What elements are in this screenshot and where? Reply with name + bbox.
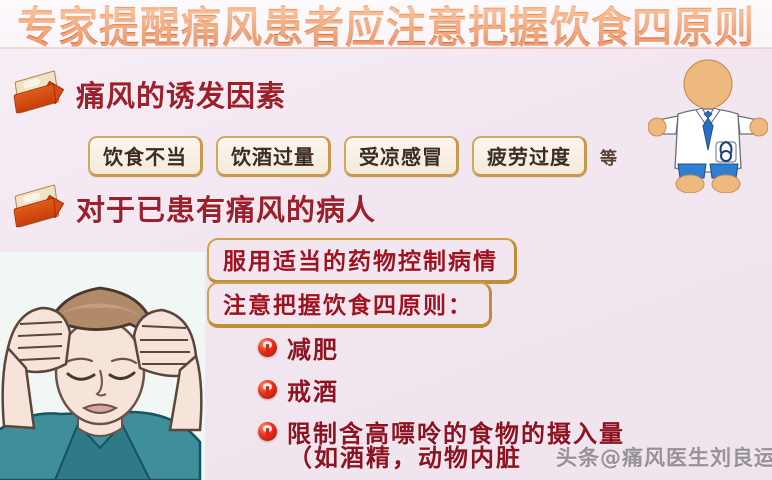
section-heading-2: 对于已患有痛风的病人 [14,186,376,230]
principle-label-2: 戒酒 [287,372,339,407]
cause-tag-1[interactable]: 饮食不当 [88,136,203,177]
woman-headache-illustration [0,252,205,480]
cause-tag-4[interactable]: 疲劳过度 [472,136,587,177]
advice-box-1[interactable]: 服用适当的药物控制病情 [207,238,517,284]
section-heading-1-label: 痛风的诱发因素 [76,73,286,115]
cause-tag-suffix: 等 [600,144,617,169]
list-item: 减肥 [258,330,625,365]
bullet-dot-icon [258,380,277,399]
advice-box-2[interactable]: 注意把握饮食四原则： [207,282,492,328]
section-heading-1: 痛风的诱发因素 [14,72,286,116]
watermark: 头条@痛风医生刘良运 [556,442,772,472]
title-divider [0,47,772,49]
list-item: 戒酒 [258,372,625,407]
page-title: 专家提醒痛风患者应注意把握饮食四原则 [17,0,755,48]
cause-tag-2[interactable]: 饮酒过量 [216,136,331,177]
poster-canvas: 专家提醒痛风患者应注意把握饮食四原则 痛风的诱发因素 饮食不当 饮酒过量 受凉感… [0,0,772,480]
bullet-dot-icon [258,338,277,357]
cartoon-doctor-illustration [648,58,768,193]
bookmark-icon [14,186,64,230]
cause-tag-row: 饮食不当 饮酒过量 受凉感冒 疲劳过度 等 [88,136,617,177]
bullet-dot-icon [258,422,277,441]
principle-continuation: （如酒精，动物内脏 [288,438,522,473]
section-heading-2-label: 对于已患有痛风的病人 [76,187,376,229]
title-bar: 专家提醒痛风患者应注意把握饮食四原则 [0,0,772,48]
bookmark-icon [14,72,64,116]
principle-label-1: 减肥 [287,330,339,365]
cause-tag-3[interactable]: 受凉感冒 [344,136,459,177]
